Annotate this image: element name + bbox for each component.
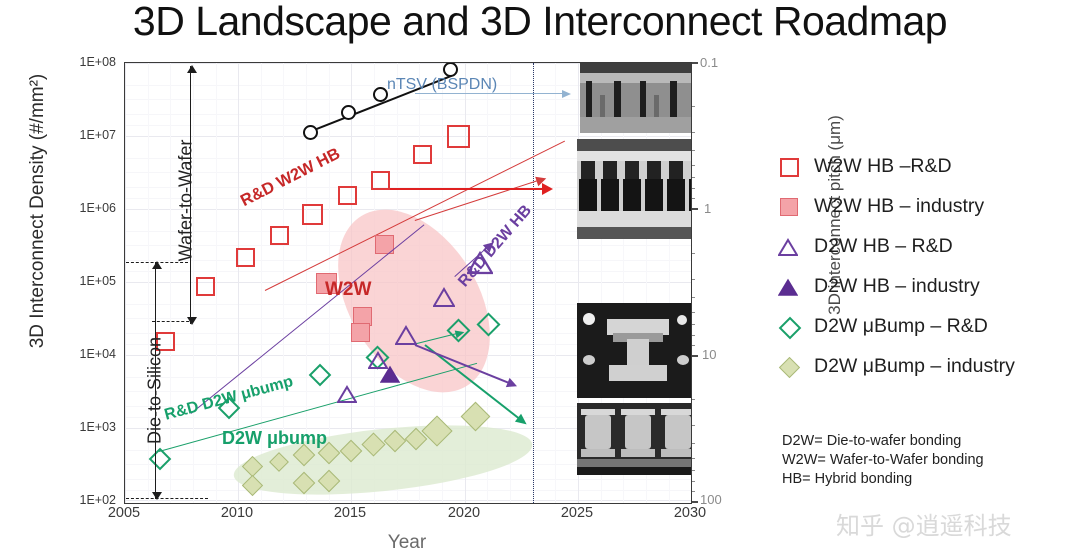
w2w-hb-rd-point (196, 277, 215, 296)
watermark: 知乎 @逍遥科技 (836, 506, 1012, 541)
x-tick-4: 2025 (542, 505, 612, 521)
w2w-hb-rd-point (413, 145, 432, 164)
note-w2w: W2W= Wafer-to-Wafer bonding (782, 451, 984, 470)
annotation-w2w: W2W (325, 279, 371, 301)
w2w-hb-rd-point (371, 171, 390, 190)
annotation-ntsv: nTSV (BSPDN) (387, 76, 497, 94)
legend-item-d2w-hb-industry[interactable]: D2W HB – industry (778, 266, 1078, 306)
y-tick-left-4: 1E+04 (46, 347, 116, 361)
ntsv-point (443, 62, 458, 77)
sem-inset-d2w-ubump (577, 403, 692, 475)
y-axis-left-label: 3D Interconnect Density (#/mm²) (27, 1, 49, 421)
annotation-d2w-ubump: D2W μbump (222, 428, 327, 449)
w2w-hb-rd-point (338, 186, 357, 205)
d2w-hb-rd-point (395, 325, 417, 345)
legend-item-w2w-hb-rd[interactable]: W2W HB –R&D (778, 146, 1078, 186)
y-tick-left-0: 1E+08 (46, 55, 116, 69)
w2w-hb-rd-point (236, 248, 255, 267)
square-open-icon (778, 156, 804, 176)
bracket-dash-mid (152, 321, 194, 322)
sem-inset-w2w-hybrid-bond (577, 139, 692, 239)
w2w-hb-rd-point (302, 204, 323, 225)
diamond-open-icon (778, 316, 804, 336)
legend-label: D2W HB – R&D (814, 235, 953, 258)
legend-label: D2W μBump – industry (814, 355, 1015, 378)
ntsv-point (303, 125, 318, 140)
legend: W2W HB –R&D W2W HB – industry D2W HB – R… (778, 146, 1078, 386)
diamond-filled-icon (778, 356, 804, 376)
legend-item-d2w-hb-rd[interactable]: D2W HB – R&D (778, 226, 1078, 266)
legend-item-w2w-hb-industry[interactable]: W2W HB – industry (778, 186, 1078, 226)
d2w-hb-rd-point (337, 385, 357, 403)
legend-item-d2w-ubump-rd[interactable]: D2W μBump – R&D (778, 306, 1078, 346)
legend-label: W2W HB –R&D (814, 155, 952, 178)
x-tick-0: 2005 (89, 505, 159, 521)
sem-inset-ntsv (580, 63, 692, 133)
page-title: 3D Landscape and 3D Interconnect Roadmap (0, 0, 1080, 45)
bracket-dash-lower (126, 498, 208, 499)
abbreviation-notes: D2W= Die-to-wafer bonding W2W= Wafer-to-… (782, 432, 984, 489)
note-hb: HB= Hybrid bonding (782, 470, 984, 489)
sem-inset-d2w-hybrid-bond (577, 303, 692, 398)
chart-plot-area: nTSV (BSPDN) R&D W2W HB W2W R&D D2W HB R… (124, 62, 692, 504)
legend-item-d2w-ubump-industry[interactable]: D2W μBump – industry (778, 346, 1078, 386)
slide-root: 3D Landscape and 3D Interconnect Roadmap… (0, 0, 1080, 560)
legend-label: D2W HB – industry (814, 275, 980, 298)
square-filled-icon (778, 196, 804, 216)
d2w-hb-rd-point (433, 287, 455, 307)
x-tick-2: 2015 (315, 505, 385, 521)
legend-label: D2W μBump – R&D (814, 315, 988, 338)
y-tick-left-5: 1E+03 (46, 420, 116, 434)
y-tick-right-1: 1 (704, 201, 756, 216)
current-year-marker (533, 63, 534, 503)
d2w-hb-industry-point (380, 365, 400, 383)
wafer-to-wafer-bracket-label: Wafer-to-Wafer (176, 91, 197, 311)
triangle-filled-icon (778, 276, 804, 296)
triangle-open-icon (778, 236, 804, 256)
x-tick-3: 2020 (429, 505, 499, 521)
w2w-hb-industry-point (351, 323, 370, 342)
die-to-silicon-bracket-label: Die-to-Silicon (145, 281, 166, 501)
bracket-dash-upper (126, 262, 188, 263)
y-tick-right-2: 10 (702, 347, 754, 362)
ntsv-point (373, 87, 388, 102)
x-axis-label: Year (124, 532, 690, 554)
w2w-hb-rd-point (270, 226, 289, 245)
y-tick-right-0: 0.1 (700, 55, 752, 70)
y-tick-left-1: 1E+07 (46, 128, 116, 142)
note-d2w: D2W= Die-to-wafer bonding (782, 432, 984, 451)
legend-label: W2W HB – industry (814, 195, 984, 218)
x-tick-5: 2030 (655, 505, 725, 521)
y-tick-left-3: 1E+05 (46, 274, 116, 288)
ntsv-point (341, 105, 356, 120)
y-tick-left-2: 1E+06 (46, 201, 116, 215)
w2w-hb-rd-point (447, 125, 470, 148)
x-tick-1: 2010 (202, 505, 272, 521)
